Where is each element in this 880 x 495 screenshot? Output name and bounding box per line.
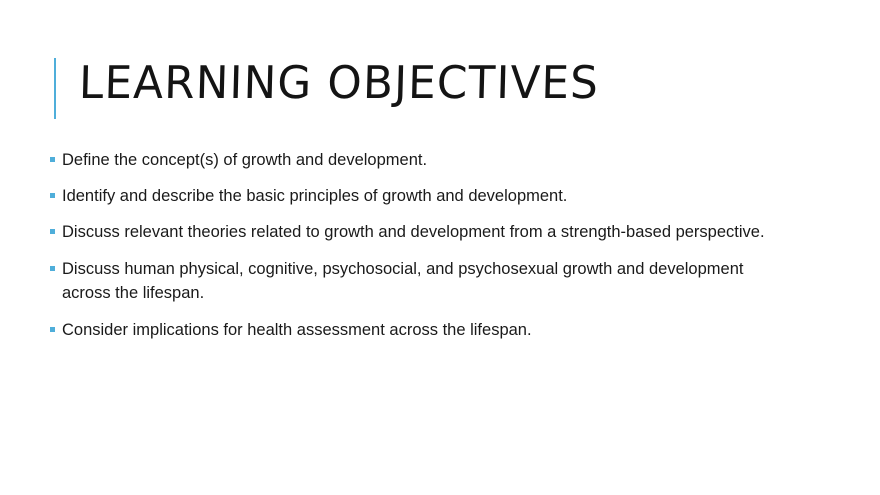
list-item: Consider implications for health assessm… [48, 318, 788, 342]
learning-objectives-list: Define the concept(s) of growth and deve… [48, 148, 788, 342]
list-item: Discuss human physical, cognitive, psych… [48, 257, 788, 305]
slide-title-block: Learning Objectives [48, 52, 838, 124]
list-item-label: Discuss relevant theories related to gro… [62, 220, 788, 244]
page-title: Learning Objectives [78, 52, 600, 114]
list-item: Define the concept(s) of growth and deve… [48, 148, 788, 172]
presentation-slide: Learning Objectives Define the concept(s… [0, 0, 880, 495]
square-bullet-icon [50, 327, 55, 332]
list-item-label: Discuss human physical, cognitive, psych… [62, 257, 788, 305]
list-item: Discuss relevant theories related to gro… [48, 220, 788, 244]
list-item-label: Define the concept(s) of growth and deve… [62, 148, 788, 172]
title-accent-bar [54, 58, 56, 119]
list-item: Identify and describe the basic principl… [48, 184, 788, 208]
list-item-label: Identify and describe the basic principl… [62, 184, 788, 208]
square-bullet-icon [50, 266, 55, 271]
square-bullet-icon [50, 229, 55, 234]
square-bullet-icon [50, 157, 55, 162]
list-item-label: Consider implications for health assessm… [62, 318, 788, 342]
square-bullet-icon [50, 193, 55, 198]
